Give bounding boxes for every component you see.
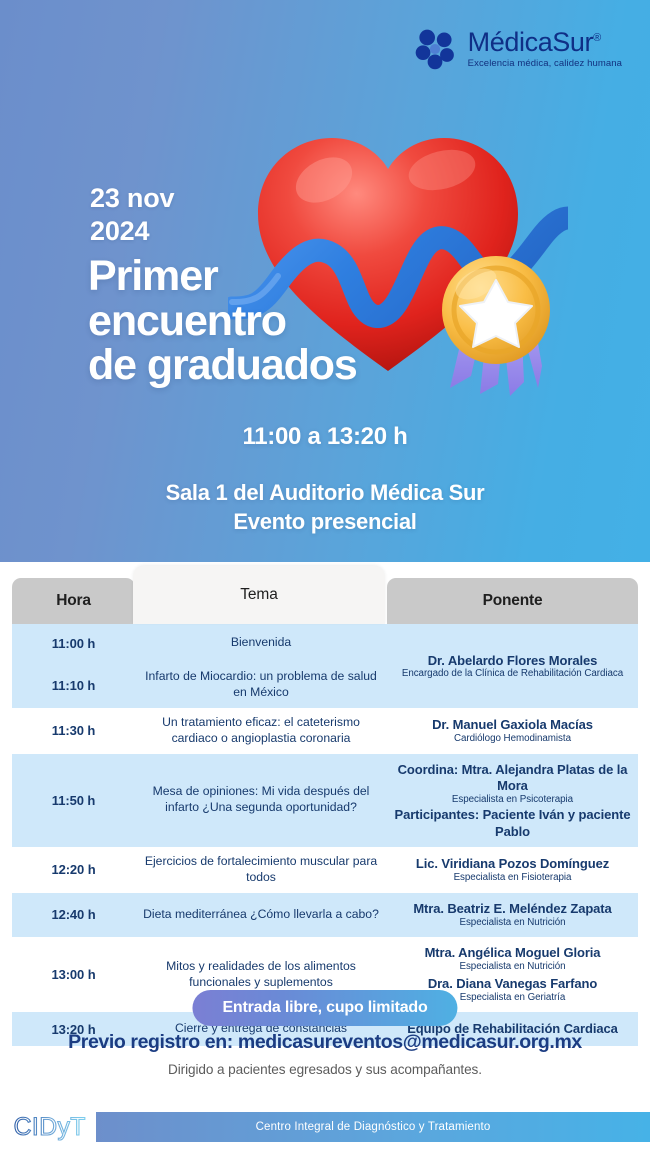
event-date: 23 nov 2024 (90, 182, 174, 248)
cell-hora: 11:30 h (12, 708, 135, 754)
table-row: 11:10 h Infarto de Miocardio: un problem… (12, 662, 387, 708)
schedule-group-left: 11:00 h Bienvenida 11:10 h Infarto de Mi… (12, 624, 387, 708)
table-row: 11:00 h Bienvenida (12, 624, 387, 662)
table-row: 11:50 hMesa de opiniones: Mi vida despué… (12, 754, 638, 847)
cidyt-logo: CIDyT (12, 1108, 100, 1146)
event-title-line-2: encuentro (88, 299, 357, 344)
cell-ponente: Mtra. Beatriz E. Meléndez ZapataEspecial… (387, 893, 638, 937)
speaker: Dr. Manuel Gaxiola MacíasCardiólogo Hemo… (432, 717, 593, 745)
event-title-line-3: de graduados (88, 343, 357, 388)
speaker-role: Especialista en Nutrición (413, 917, 611, 929)
speaker-name: Dr. Manuel Gaxiola Macías (432, 717, 593, 733)
speaker-name: Dr. Abelardo Flores Morales (402, 653, 623, 668)
schedule-header-row: Hora Tema Ponente (12, 578, 638, 624)
table-row: 12:40 hDieta mediterránea ¿Cómo llevarla… (12, 893, 638, 937)
table-row: 12:20 hEjercicios de fortalecimiento mus… (12, 847, 638, 893)
registered-mark: ® (593, 32, 601, 44)
speaker: Mtra. Angélica Moguel GloriaEspecialista… (425, 945, 601, 973)
event-poster: MédicaSur® Excelencia médica, calidez hu… (0, 0, 650, 1156)
speaker-participants: Participantes: Paciente Iván y paciente … (393, 807, 632, 840)
speaker-name: Mtra. Beatriz E. Meléndez Zapata (413, 901, 611, 917)
schedule-body: 11:00 h Bienvenida 11:10 h Infarto de Mi… (12, 624, 638, 1046)
speaker: Mtra. Beatriz E. Meléndez ZapataEspecial… (413, 901, 611, 929)
speaker: Lic. Viridiana Pozos DomínguezEspecialis… (416, 856, 609, 884)
speaker-role: Especialista en Psicoterapia (393, 794, 632, 806)
speaker-role: Especialista en Fisioterapia (416, 872, 609, 884)
table-row: 11:30 hUn tratamiento eficaz: el cateter… (12, 708, 638, 754)
column-header-hora: Hora (12, 578, 135, 624)
event-title-line-1: Primer (88, 254, 357, 299)
medica-sur-flower-icon (412, 26, 458, 72)
cell-tema: Un tratamiento eficaz: el cateterismo ca… (135, 708, 387, 754)
brand-name: MédicaSur® (468, 29, 622, 56)
cidyt-full-name: Centro Integral de Diagnóstico y Tratami… (256, 1121, 491, 1133)
cell-tema: Ejercicios de fortalecimiento muscular p… (135, 847, 387, 893)
cell-ponente: Dr. Manuel Gaxiola MacíasCardiólogo Hemo… (387, 708, 638, 754)
event-time: 11:00 a 13:20 h (0, 423, 650, 451)
cell-tema: Mesa de opiniones: Mi vida después del i… (135, 754, 387, 847)
speaker: Dr. Abelardo Flores Morales Encargado de… (402, 653, 623, 679)
venue-modality: Evento presencial (0, 507, 650, 536)
cell-hora: 11:00 h (12, 629, 135, 658)
speaker: Coordina: Mtra. Alejandra Platas de la M… (393, 762, 632, 807)
speaker-role: Cardiólogo Hemodinamista (432, 733, 593, 745)
entrada-libre-badge[interactable]: Entrada libre, cupo limitado (192, 990, 457, 1026)
cell-tema: Infarto de Miocardio: un problema de sal… (135, 662, 387, 708)
schedule-table: Hora Tema Ponente 11:00 h Bienvenida 11:… (12, 578, 638, 1046)
venue-location: Sala 1 del Auditorio Médica Sur (0, 478, 650, 507)
speaker-role: Especialista en Nutrición (425, 961, 601, 973)
event-venue: Sala 1 del Auditorio Médica Sur Evento p… (0, 478, 650, 536)
cell-tema: Dieta mediterránea ¿Cómo llevarla a cabo… (135, 893, 387, 937)
cidyt-band: Centro Integral de Diagnóstico y Tratami… (96, 1112, 650, 1142)
event-date-day: 23 nov (90, 182, 174, 215)
cell-hora: 12:40 h (12, 893, 135, 937)
brand-tagline: Excelencia médica, calidez humana (468, 59, 622, 69)
speaker-name: Mtra. Angélica Moguel Gloria (425, 945, 601, 961)
schedule-group-intro: 11:00 h Bienvenida 11:10 h Infarto de Mi… (12, 624, 638, 708)
cell-hora: 11:10 h (12, 671, 135, 700)
column-header-tema: Tema (133, 566, 385, 624)
cell-ponente: Lic. Viridiana Pozos DomínguezEspecialis… (387, 847, 638, 893)
cell-hora: 13:00 h (12, 937, 135, 1012)
cell-ponente: Coordina: Mtra. Alejandra Platas de la M… (387, 754, 638, 847)
audience-note: Dirigido a pacientes egresados y sus aco… (0, 1062, 650, 1077)
svg-text:CIDyT: CIDyT (14, 1114, 86, 1141)
hero-section: MédicaSur® Excelencia médica, calidez hu… (0, 0, 650, 562)
cell-hora: 12:20 h (12, 847, 135, 893)
cell-ponente: Dr. Abelardo Flores Morales Encargado de… (387, 624, 638, 708)
column-header-ponente: Ponente (387, 578, 638, 624)
speaker-name: Dra. Diana Vanegas Farfano (428, 976, 597, 992)
registration-info: Previo registro en: medicasureventos@med… (0, 1031, 650, 1054)
cell-hora: 11:50 h (12, 754, 135, 847)
speaker-name: Coordina: Mtra. Alejandra Platas de la M… (393, 762, 632, 795)
event-date-year: 2024 (90, 215, 174, 248)
event-title: Primer encuentro de graduados (88, 254, 357, 388)
cell-tema: Bienvenida (135, 628, 387, 658)
medica-sur-logo: MédicaSur® Excelencia médica, calidez hu… (412, 26, 622, 72)
footer-bar: CIDyT Centro Integral de Diagnóstico y T… (0, 1112, 650, 1142)
speaker-role: Encargado de la Clínica de Rehabilitació… (402, 668, 623, 679)
speaker-name: Lic. Viridiana Pozos Domínguez (416, 856, 609, 872)
